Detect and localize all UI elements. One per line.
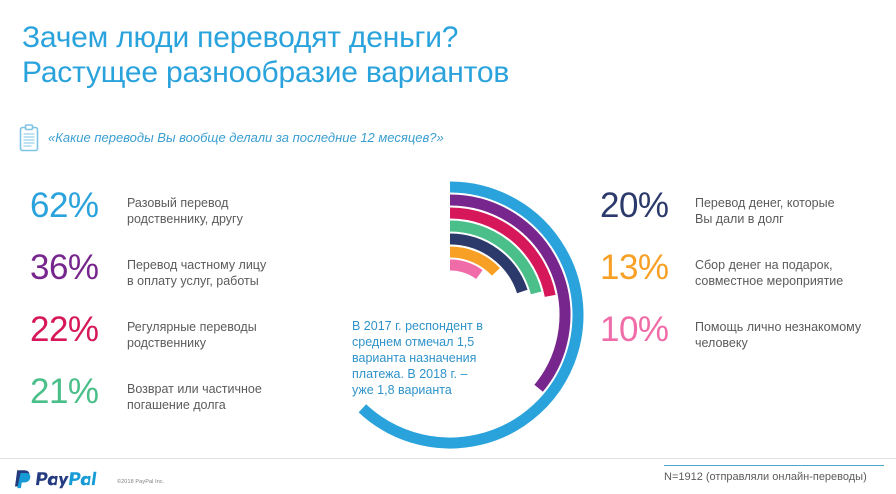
- paypal-logo: [12, 468, 108, 490]
- footnote: N=1912 (отправляли онлайн-переводы): [664, 465, 884, 484]
- arc-segment: [450, 265, 479, 275]
- stat-row: 10% Помощь лично незнакомому человеку: [600, 310, 896, 372]
- stat-row: 36% Перевод частному лицу в оплату услуг…: [30, 248, 330, 310]
- stat-value: 21%: [30, 372, 127, 412]
- stat-value: 62%: [30, 186, 127, 226]
- subtitle-text: «Какие переводы Вы вообще делали за посл…: [48, 124, 444, 147]
- stat-value: 13%: [600, 248, 695, 288]
- footnote-rule: [664, 465, 884, 466]
- stat-value: 10%: [600, 310, 695, 350]
- stat-value: 22%: [30, 310, 127, 350]
- stat-value: 20%: [600, 186, 695, 226]
- stat-label: Помощь лично незнакомому человеку: [695, 310, 896, 351]
- stat-row: 22% Регулярные переводы родственнику: [30, 310, 330, 372]
- left-stats-column: 62% Разовый перевод родственнику, другу …: [30, 186, 330, 434]
- subtitle-row: «Какие переводы Вы вообще делали за посл…: [18, 124, 444, 152]
- stat-value: 36%: [30, 248, 127, 288]
- stat-label: Перевод денег, которые Вы дали в долг: [695, 186, 896, 227]
- clipboard-icon: [18, 124, 40, 152]
- stat-row: 62% Разовый перевод родственнику, другу: [30, 186, 330, 248]
- stat-label: Сбор денег на подарок, совместное меропр…: [695, 248, 896, 289]
- stat-row: 20% Перевод денег, которые Вы дали в дол…: [600, 186, 896, 248]
- footnote-text: N=1912 (отправляли онлайн-переводы): [664, 470, 884, 484]
- copyright-text: ©2018 PayPal Inc.: [117, 479, 164, 485]
- right-stats-column: 20% Перевод денег, которые Вы дали в дол…: [600, 186, 896, 372]
- arc-annotation: В 2017 г. респондент в среднем отмечал 1…: [352, 318, 502, 398]
- footer-divider: [0, 458, 896, 459]
- stat-row: 21% Возврат или частичное погашение долг…: [30, 372, 330, 434]
- stat-row: 13% Сбор денег на подарок, совместное ме…: [600, 248, 896, 310]
- arc-chart: [300, 155, 590, 465]
- page-title: Зачем люди переводят деньги? Растущее ра…: [22, 20, 822, 90]
